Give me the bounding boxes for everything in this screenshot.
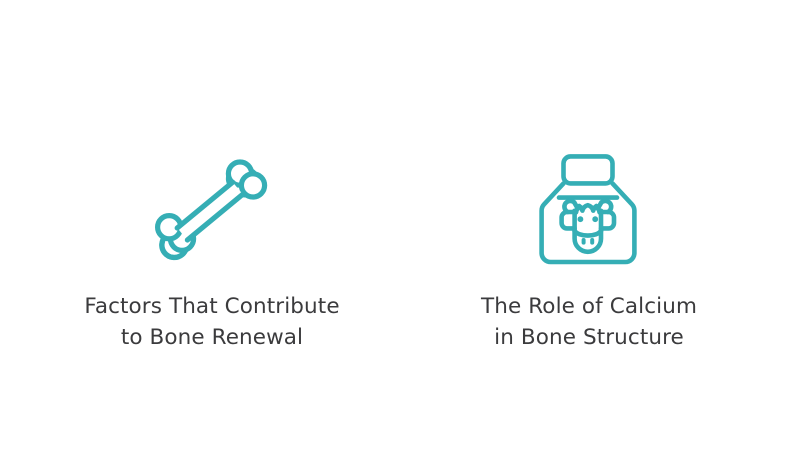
card-calcium-role[interactable]: The Role of Calcium in Bone Structure xyxy=(404,150,774,353)
slide-canvas: Factors That Contribute to Bone Renewal xyxy=(0,0,802,454)
card-bone-renewal[interactable]: Factors That Contribute to Bone Renewal xyxy=(27,150,397,353)
bone-icon xyxy=(151,152,271,272)
card-bone-caption: Factors That Contribute to Bone Renewal xyxy=(84,291,339,353)
card-row: Factors That Contribute to Bone Renewal xyxy=(0,150,802,353)
card-calcium-caption: The Role of Calcium in Bone Structure xyxy=(481,291,697,353)
milk-jug-cow-icon xyxy=(528,150,648,270)
